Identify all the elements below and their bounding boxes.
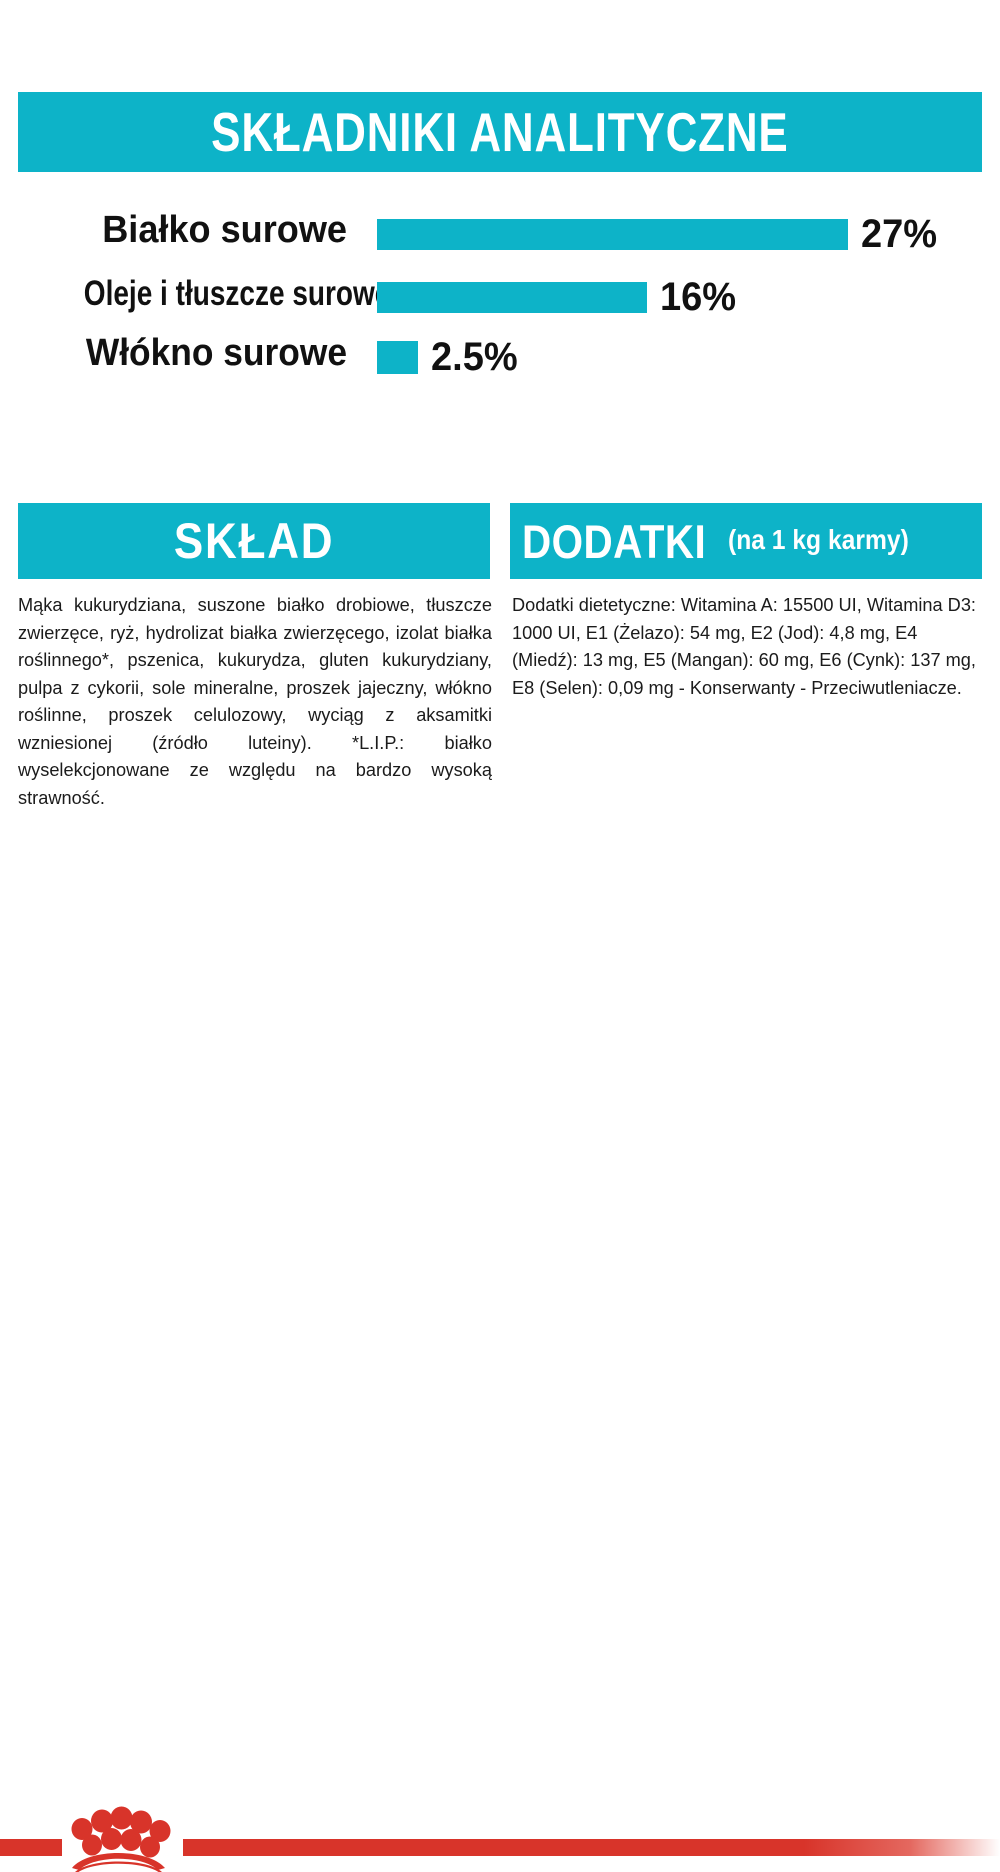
bar-fill-protein (377, 219, 848, 250)
additives-body-text: Dodatki dietetyczne: Witamina A: 15500 U… (512, 592, 984, 702)
additives-banner: DODATKI (na 1 kg karmy) (510, 503, 982, 579)
composition-body-text: Mąka kukurydziana, suszone białko drobio… (18, 592, 492, 812)
composition-title: SKŁAD (174, 516, 334, 566)
analytical-constituents-banner: SKŁADNIKI ANALITYCZNE (18, 92, 982, 172)
royal-canin-crown-icon (66, 1806, 171, 1872)
bar-fill-fibre (377, 341, 418, 374)
bar-track: 27% (377, 214, 941, 254)
additives-subtitle: (na 1 kg karmy) (728, 524, 909, 559)
bar-label-fibre: Włókno surowe (41, 334, 347, 372)
bar-fill-fat (377, 282, 647, 313)
footer (0, 900, 1000, 1000)
nutrition-bar-chart: Białko surowe 27% Oleje i tłuszcze surow… (0, 195, 1000, 385)
chart-row: Włókno surowe 2.5% (0, 325, 1000, 381)
analytical-constituents-title: SKŁADNIKI ANALITYCZNE (211, 105, 788, 160)
bar-track: 2.5% (377, 337, 522, 377)
additives-title: DODATKI (522, 518, 706, 565)
footer-rule-right (183, 1839, 1000, 1856)
bar-value-fat: 16% (660, 277, 736, 317)
chart-row: Białko surowe 27% (0, 202, 1000, 258)
bar-label-protein: Białko surowe (34, 211, 347, 249)
bar-track: 16% (377, 277, 740, 317)
composition-banner: SKŁAD (18, 503, 490, 579)
chart-row: Oleje i tłuszcze surowe 16% (0, 265, 1000, 321)
product-info-panel: SKŁADNIKI ANALITYCZNE Białko surowe 27% … (0, 0, 1000, 1000)
bar-value-fibre: 2.5% (431, 337, 518, 377)
footer-rule-left (0, 1839, 62, 1856)
bar-label-fat: Oleje i tłuszcze surowe (84, 276, 347, 311)
bar-value-protein: 27% (861, 214, 937, 254)
